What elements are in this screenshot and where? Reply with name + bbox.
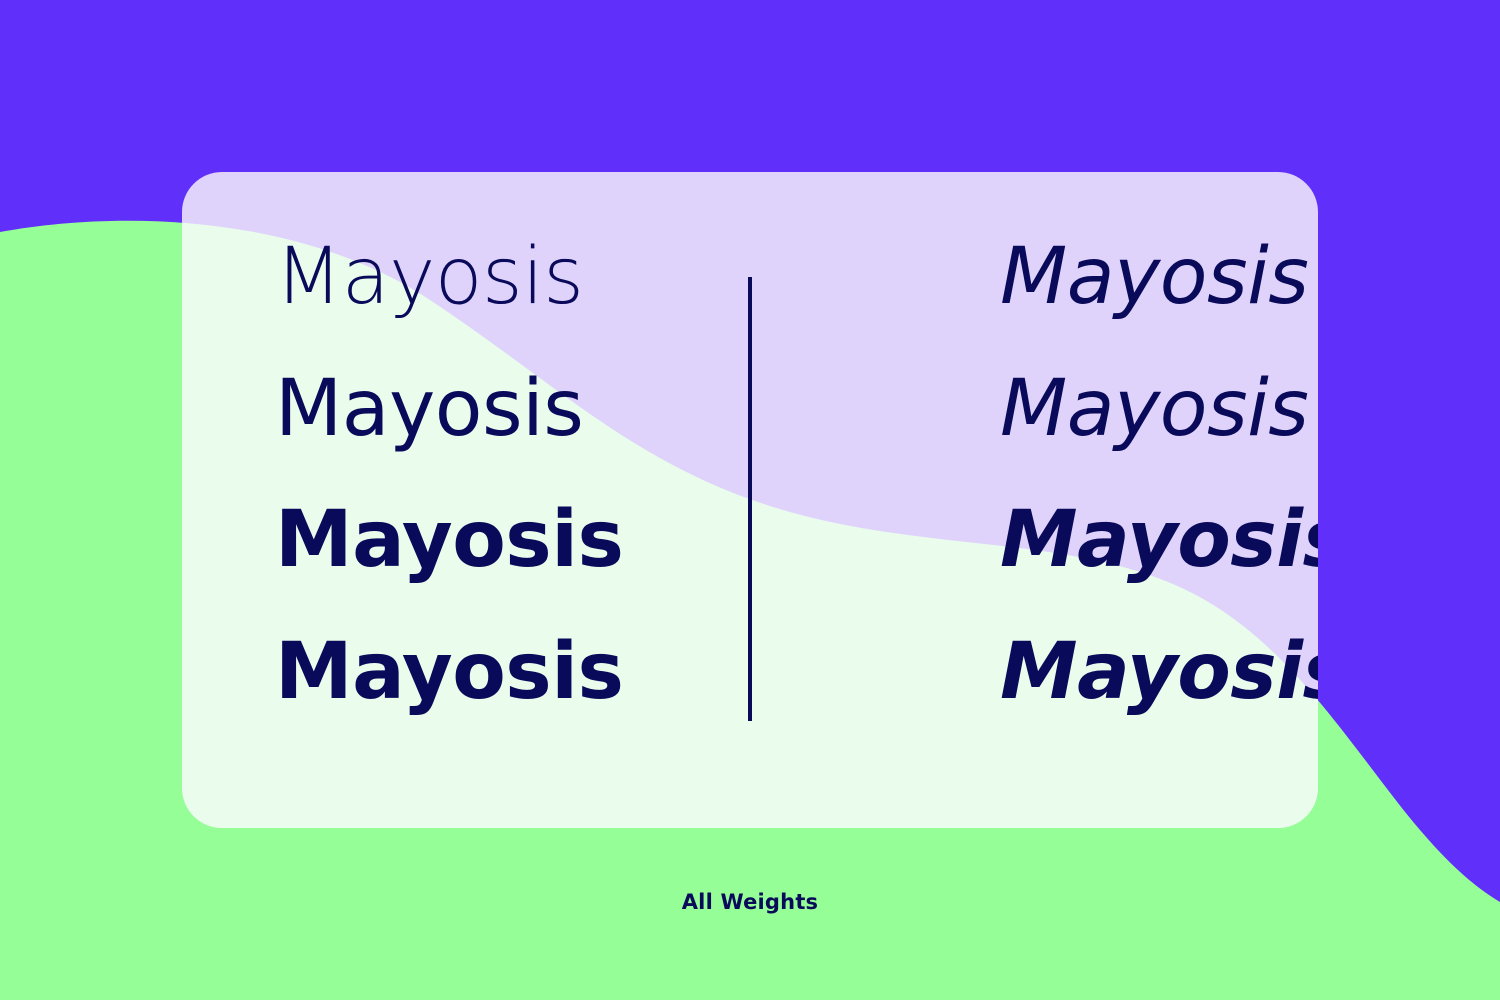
specimen-card: Mayosis Mayosis Mayosis Mayosis Mayosis … xyxy=(182,172,1318,828)
sample-upright-light: Mayosis xyxy=(182,238,842,316)
caption-label: All Weights xyxy=(0,890,1500,914)
specimen-canvas: Mayosis Mayosis Mayosis Mayosis Mayosis … xyxy=(0,0,1500,1000)
sample-upright-semibold: Mayosis xyxy=(182,501,842,579)
sample-italic-light: Mayosis xyxy=(842,238,1318,316)
sample-upright-regular: Mayosis xyxy=(182,370,842,448)
sample-italic-regular: Mayosis xyxy=(842,370,1318,448)
column-divider xyxy=(748,277,752,721)
sample-italic-semibold: Mayosis xyxy=(842,501,1318,579)
sample-upright-bold: Mayosis xyxy=(182,633,842,711)
sample-italic-bold: Mayosis xyxy=(842,633,1318,711)
